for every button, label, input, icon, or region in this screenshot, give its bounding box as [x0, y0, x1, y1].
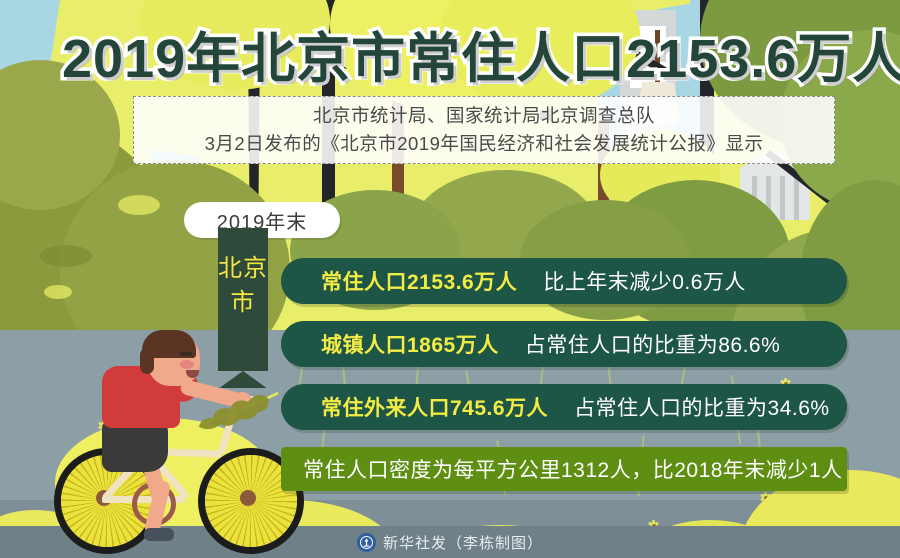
stat-value: 常住人口密度为每平方公里1312人，比2018年末减少1人: [303, 454, 843, 484]
stat-value: 占常住人口的比重为86.6%: [525, 329, 781, 359]
cyclist-mouth: [186, 370, 199, 378]
stat-row-urban-population: 城镇人口1865万人 占常住人口的比重为86.6%: [281, 321, 847, 367]
stat-row-migrant-population: 常住外来人口745.6万人 占常住人口的比重为34.6%: [281, 384, 847, 430]
leaf-highlight: [118, 195, 160, 215]
stat-key: 常住外来人口745.6万人: [321, 392, 548, 422]
xinhua-emblem-icon: [360, 536, 373, 549]
leaf-highlight: [40, 245, 92, 267]
stat-row-resident-population: 常住人口2153.6万人 比上年末减少0.6万人: [281, 258, 847, 304]
banner-notch: [218, 371, 268, 389]
city-banner-label: 北京市: [218, 252, 268, 320]
cyclist-hair: [140, 348, 154, 374]
subtitle-line-2: 3月2日发布的《北京市2019年国民经济和社会发展统计公报》显示: [205, 130, 764, 158]
wheel-hub: [240, 490, 256, 506]
stat-key: 城镇人口1865万人: [321, 329, 499, 359]
city-banner: 北京市: [218, 228, 268, 388]
subtitle-box: 北京市统计局、国家统计局北京调查总队 3月2日发布的《北京市2019年国民经济和…: [133, 96, 835, 164]
cyclist-cheek: [180, 360, 194, 369]
building-column: [794, 176, 799, 220]
statistics-list: 常住人口2153.6万人 比上年末减少0.6万人 城镇人口1865万人 占常住人…: [281, 258, 847, 508]
cyclist-eye: [180, 352, 192, 356]
credit-line: 新华社发（李栋制图）: [0, 526, 900, 558]
page-title: 2019年北京市常住人口2153.6万人: [62, 26, 852, 92]
credit-text: 新华社发（李栋制图）: [383, 532, 543, 553]
stat-row-population-density: 常住人口密度为每平方公里1312人，比2018年末减少1人: [281, 447, 847, 491]
stat-value: 比上年末减少0.6万人: [543, 266, 746, 296]
xinhua-logo-icon: [357, 533, 376, 552]
subtitle-line-1: 北京市统计局、国家统计局北京调查总队: [313, 102, 655, 130]
leaf-highlight: [44, 285, 72, 299]
oak-leaf-icon: [190, 390, 280, 434]
stat-key: 常住人口2153.6万人: [321, 266, 517, 296]
building-column: [780, 176, 785, 220]
infographic-poster: 2019年北京市常住人口2153.6万人 北京市统计局、国家统计局北京调查总队 …: [0, 0, 900, 558]
stat-value: 占常住人口的比重为34.6%: [574, 392, 830, 422]
